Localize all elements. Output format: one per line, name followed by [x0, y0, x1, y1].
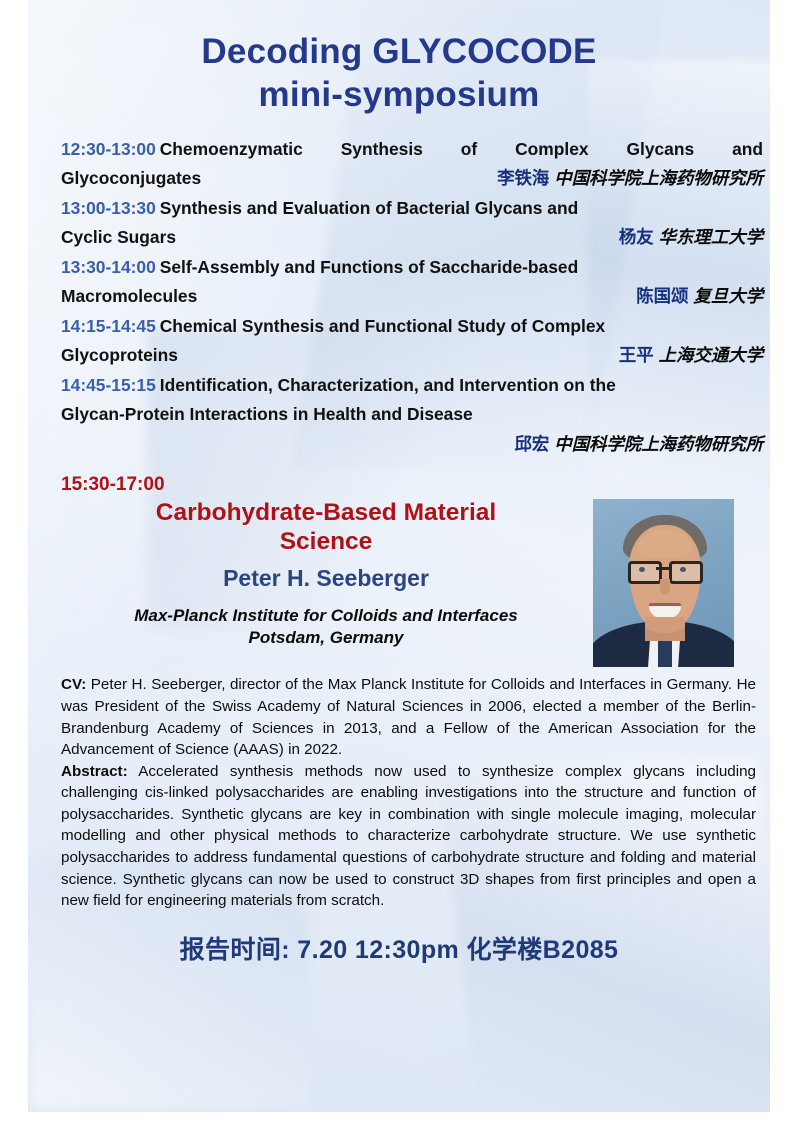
talk-affiliation: 中国科学院上海药物研究所	[554, 434, 763, 454]
schedule-item: 13:30-14:00Self-Assembly and Functions o…	[61, 253, 763, 308]
event-time-location: 报告时间: 7.20 12:30pm 化学楼B2085	[28, 930, 770, 966]
abstract-paragraph: Abstract: Accelerated synthesis methods …	[61, 761, 756, 912]
speaker-portrait-photo	[593, 499, 734, 667]
schedule-item: 12:30-13:00Chemoenzymatic Synthesis of C…	[61, 135, 763, 190]
talk-title-row-continued: Glycan-Protein Interactions in Health an…	[61, 400, 763, 430]
keynote-time: 15:30-17:00	[61, 474, 763, 497]
talk-speaker: 杨友	[619, 227, 654, 247]
talk-title: Identification, Characterization, and In…	[160, 375, 616, 395]
talk-speaker: 李铁海	[497, 168, 549, 188]
talk-title-attribution-row: Cyclic Sugars 杨友华东理工大学	[61, 224, 763, 249]
portrait-glasses-left	[628, 561, 662, 584]
poster-title-line-2: mini-symposium	[28, 73, 770, 116]
talk-title-continued: Cyclic Sugars	[61, 227, 176, 248]
keynote-speaker-name: Peter H. Seeberger	[61, 565, 591, 593]
talk-time: 12:30-13:00	[61, 139, 156, 159]
portrait-glasses-bridge	[656, 567, 669, 570]
talk-speaker: 陈国颂	[636, 286, 688, 306]
keynote-body: Carbohydrate-Based Material Science Pete…	[61, 499, 591, 650]
talk-affiliation: 中国科学院上海药物研究所	[554, 168, 763, 188]
talk-title-row: 12:30-13:00Chemoenzymatic Synthesis of C…	[61, 135, 763, 165]
talk-title-continued: Glycoproteins	[61, 345, 178, 366]
talk-time: 14:15-14:45	[61, 316, 156, 336]
schedule-item: 13:00-13:30Synthesis and Evaluation of B…	[61, 194, 763, 249]
poster-panel: Decoding GLYCOCODE mini-symposium 12:30-…	[28, 0, 770, 1112]
poster-header: Decoding GLYCOCODE mini-symposium	[28, 0, 770, 117]
talk-title: Self-Assembly and Functions of Saccharid…	[160, 257, 578, 277]
abstract-text: Accelerated synthesis methods now used t…	[61, 763, 756, 909]
talk-attribution: 李铁海中国科学院上海药物研究所	[497, 165, 763, 190]
talk-time: 13:30-14:00	[61, 257, 156, 277]
talk-title-continued: Macromolecules	[61, 286, 197, 307]
poster-title-line-1: Decoding GLYCOCODE	[28, 30, 770, 73]
keynote-institute-line-1: Max-Planck Institute for Colloids and In…	[61, 605, 591, 628]
talk-affiliation: 华东理工大学	[659, 227, 763, 247]
talk-attribution: 王平上海交通大学	[619, 342, 763, 367]
talk-speaker: 邱宏	[515, 434, 550, 454]
talk-title-attribution-row: Glycoproteins 王平上海交通大学	[61, 342, 763, 367]
keynote-title-line-2: Science	[61, 528, 591, 556]
schedule-list: 12:30-13:00Chemoenzymatic Synthesis of C…	[28, 135, 770, 461]
keynote-title-line-1: Carbohydrate-Based Material	[61, 499, 591, 527]
talk-affiliation: 复旦大学	[693, 286, 763, 306]
cv-text: Peter H. Seeberger, director of the Max …	[61, 676, 756, 758]
abstract-label: Abstract:	[61, 763, 128, 780]
talk-title-continued: Glycoconjugates	[61, 168, 201, 189]
portrait-glasses-right	[669, 561, 703, 584]
talk-title: Chemoenzymatic Synthesis of Complex Glyc…	[160, 139, 763, 159]
schedule-item: 14:45-15:15Identification, Characterizat…	[61, 371, 763, 461]
talk-title-row: 14:15-14:45Chemical Synthesis and Functi…	[61, 312, 763, 342]
talk-affiliation: 上海交通大学	[659, 345, 763, 365]
cv-label: CV:	[61, 676, 86, 693]
cv-paragraph: CV: Peter H. Seeberger, director of the …	[61, 674, 756, 760]
poster-footer: 报告时间: 7.20 12:30pm 化学楼B2085	[28, 930, 770, 966]
talk-title: Chemical Synthesis and Functional Study …	[160, 316, 605, 336]
talk-speaker: 王平	[619, 345, 654, 365]
talk-title: Synthesis and Evaluation of Bacterial Gl…	[160, 198, 578, 218]
talk-title-row: 13:00-13:30Synthesis and Evaluation of B…	[61, 194, 763, 224]
talk-title-attribution-row: Macromolecules 陈国颂复旦大学	[61, 283, 763, 308]
talk-title-attribution-row: Glycoconjugates 李铁海中国科学院上海药物研究所	[61, 165, 763, 190]
keynote-institute-line-2: Potsdam, Germany	[61, 627, 591, 650]
keynote-section: 15:30-17:00 Carbohydrate-Based Material …	[28, 474, 770, 664]
talk-title-row: 13:30-14:00Self-Assembly and Functions o…	[61, 253, 763, 283]
talk-title-continued: Glycan-Protein Interactions in Health an…	[61, 404, 473, 424]
schedule-item: 14:15-14:45Chemical Synthesis and Functi…	[61, 312, 763, 367]
talk-attribution-row: 邱宏中国科学院上海药物研究所	[61, 430, 763, 460]
talk-attribution: 杨友华东理工大学	[619, 224, 763, 249]
portrait-tie	[658, 641, 672, 667]
talk-time: 13:00-13:30	[61, 198, 156, 218]
talk-title-row: 14:45-15:15Identification, Characterizat…	[61, 371, 763, 401]
talk-time: 14:45-15:15	[61, 375, 156, 395]
biography-section: CV: Peter H. Seeberger, director of the …	[28, 674, 770, 911]
talk-attribution: 陈国颂复旦大学	[636, 283, 763, 308]
